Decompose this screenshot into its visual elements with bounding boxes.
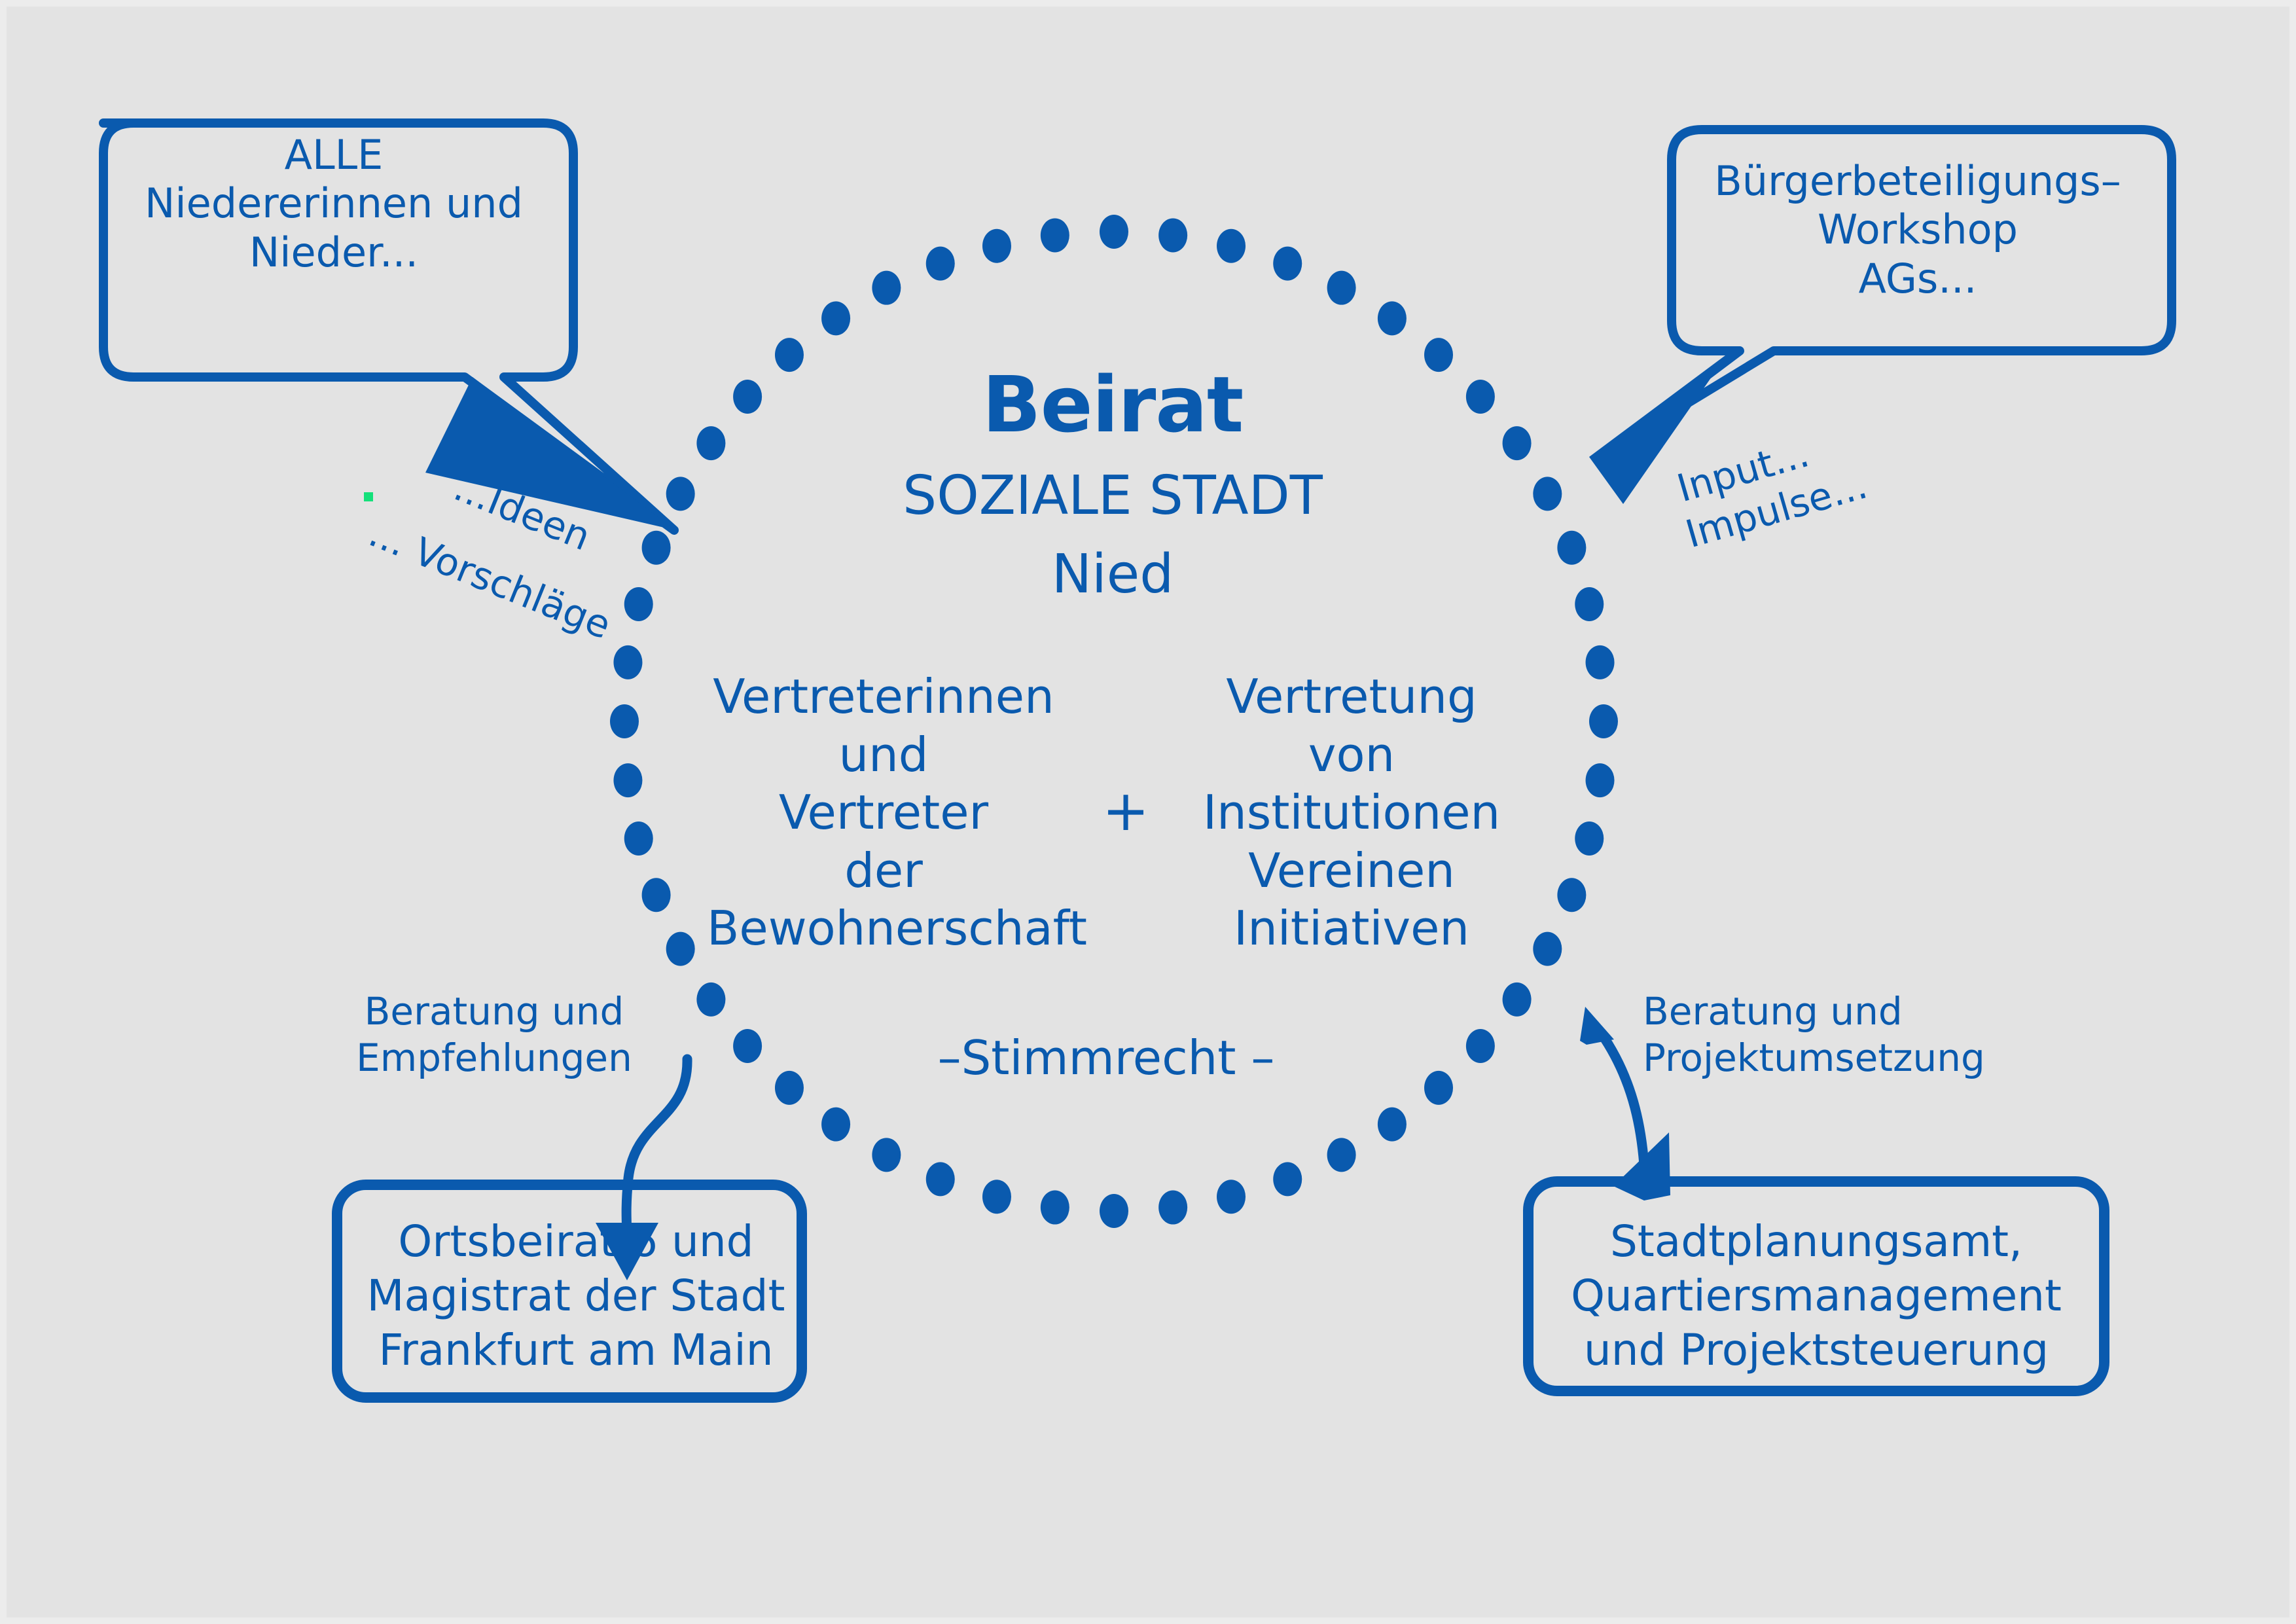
circle-dot bbox=[1533, 477, 1562, 511]
center-title: Beirat bbox=[779, 360, 1446, 450]
circle-dot bbox=[1158, 218, 1187, 252]
speech-bubble-left-label: ALLE Niedererinnen und Nieder... bbox=[98, 131, 569, 277]
circle-dot bbox=[1466, 1029, 1495, 1063]
diagram-canvas: ALLE Niedererinnen und Nieder... Bürgerb… bbox=[0, 0, 2296, 1624]
circle-dot bbox=[872, 271, 901, 305]
circle-dot bbox=[642, 531, 671, 565]
circle-dot bbox=[666, 932, 695, 966]
plus-sign: + bbox=[1086, 779, 1165, 844]
circle-dot bbox=[1378, 1108, 1407, 1142]
box-ortsbeirat-label: Ortsbeirat 6 und Magistrat der Stadt Fra… bbox=[347, 1214, 805, 1377]
circle-dot bbox=[624, 821, 653, 856]
circle-dot bbox=[1100, 215, 1128, 249]
circle-dot bbox=[1041, 218, 1069, 252]
circle-dot bbox=[733, 1029, 762, 1063]
circle-dot bbox=[1557, 878, 1586, 912]
circle-dot bbox=[1327, 1138, 1356, 1172]
circle-dot bbox=[872, 1138, 901, 1172]
circle-dot bbox=[1100, 1194, 1128, 1228]
circle-dot bbox=[1273, 247, 1302, 281]
circle-dot bbox=[610, 704, 639, 738]
circle-dot bbox=[1273, 1162, 1302, 1196]
circle-dot bbox=[982, 1180, 1011, 1214]
circle-dot bbox=[1589, 704, 1618, 738]
circle-dot bbox=[696, 426, 725, 460]
circle-dot bbox=[1327, 271, 1356, 305]
circle-dot bbox=[1041, 1191, 1069, 1225]
label-beratung-empfehlungen: Beratung und Empfehlungen bbox=[347, 988, 641, 1081]
circle-dot bbox=[1557, 531, 1586, 565]
circle-dot bbox=[926, 247, 955, 281]
circle-dot bbox=[1424, 1071, 1453, 1105]
circle-dot bbox=[1466, 380, 1495, 414]
circle-dot bbox=[821, 1108, 850, 1142]
circle-dot bbox=[696, 983, 725, 1017]
green-marker-dot bbox=[364, 492, 373, 501]
circle-dot bbox=[982, 229, 1011, 263]
membership-column-right: Vertretung von Institutionen Vereinen In… bbox=[1198, 668, 1505, 958]
label-ideen: ...Ideen bbox=[448, 465, 597, 559]
circle-dot bbox=[613, 763, 642, 797]
label-beratung-projektumsetzung: Beratung und Projektumsetzung bbox=[1643, 988, 1970, 1081]
circle-dot bbox=[1586, 645, 1615, 679]
circle-dot bbox=[624, 587, 653, 621]
circle-dot bbox=[1503, 426, 1532, 460]
circle-dot bbox=[1533, 932, 1562, 966]
circle-dot bbox=[666, 477, 695, 511]
stimmrecht-note: –Stimmrecht – bbox=[923, 1031, 1289, 1086]
box-stadtplanung-label: Stadtplanungsamt, Quartiersmanagement un… bbox=[1532, 1214, 2101, 1377]
membership-column-left: Vertreterinnen und Vertreter der Bewohne… bbox=[707, 668, 1060, 958]
circle-dot bbox=[1378, 301, 1407, 335]
speech-bubble-right-label: Bürgerbeteiligungs– Workshop AGs... bbox=[1682, 157, 2153, 303]
circle-dot bbox=[775, 1071, 804, 1105]
circle-dot bbox=[1503, 983, 1532, 1017]
circle-dot bbox=[1575, 821, 1604, 856]
center-subtitle-line1: SOZIALE STADT bbox=[779, 465, 1446, 527]
circle-dot bbox=[1586, 763, 1615, 797]
circle-dot bbox=[926, 1162, 955, 1196]
circle-dot bbox=[1217, 1180, 1246, 1214]
circle-dot bbox=[1575, 587, 1604, 621]
circle-dot bbox=[613, 645, 642, 679]
circle-dot bbox=[1158, 1191, 1187, 1225]
center-subtitle-line2: Nied bbox=[779, 543, 1446, 605]
circle-dot bbox=[1217, 229, 1246, 263]
circle-dot bbox=[642, 878, 671, 912]
circle-dot bbox=[733, 380, 762, 414]
circle-dot bbox=[821, 301, 850, 335]
